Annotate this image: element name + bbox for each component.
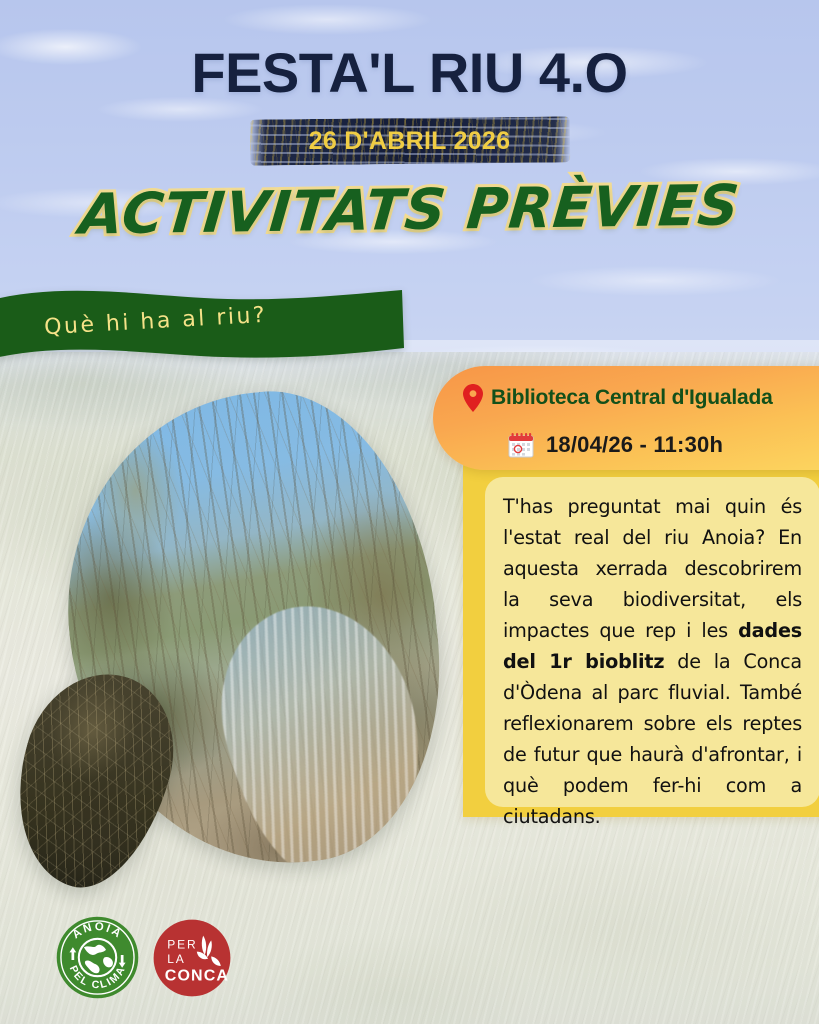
description-text: T'has preguntat mai quin és l'estat real…	[503, 491, 802, 832]
conca-logo-line2: LA	[167, 951, 186, 965]
venue-label: Biblioteca Central d'Igualada	[491, 386, 773, 410]
anoia-pel-clima-mark: ANOIA PEL CLIMA	[55, 915, 140, 1000]
calendar-icon	[508, 432, 534, 458]
logo-strip: ANOIA PEL CLIMA PER LA CONCA	[55, 915, 232, 1000]
conca-logo-line3: CONCA	[165, 967, 229, 984]
poster-subtitle: ACTIVITATS PRÈVIES	[0, 172, 819, 248]
event-info-card: Biblioteca Central d'Igualada	[433, 366, 819, 470]
description-panel: T'has preguntat mai quin és l'estat real…	[485, 477, 819, 807]
date-badge: 26 D'ABRIL 2026	[250, 118, 570, 164]
poster-title: FESTA'L RIU 4.O	[0, 40, 819, 105]
per-la-conca-logo: PER LA CONCA	[152, 918, 232, 998]
date-badge-label: 26 D'ABRIL 2026	[309, 127, 511, 156]
question-ribbon: Què hi ha al riu?	[0, 286, 404, 362]
datetime-row: 18/04/26 - 11:30h	[433, 424, 819, 466]
conca-logo-line1: PER	[167, 937, 197, 951]
description-run: de la Conca d'Òdena al parc fluvial. Tam…	[503, 650, 802, 828]
per-la-conca-mark: PER LA CONCA	[152, 918, 232, 998]
photo-blob-group	[14, 386, 462, 926]
poster-canvas: FESTA'L RIU 4.O 26 D'ABRIL 2026 ACTIVITA…	[0, 0, 819, 1024]
datetime-label: 18/04/26 - 11:30h	[546, 432, 723, 458]
anoia-pel-clima-logo: ANOIA PEL CLIMA	[55, 915, 140, 1000]
venue-row: Biblioteca Central d'Igualada	[433, 378, 819, 418]
location-pin-icon	[463, 384, 483, 412]
